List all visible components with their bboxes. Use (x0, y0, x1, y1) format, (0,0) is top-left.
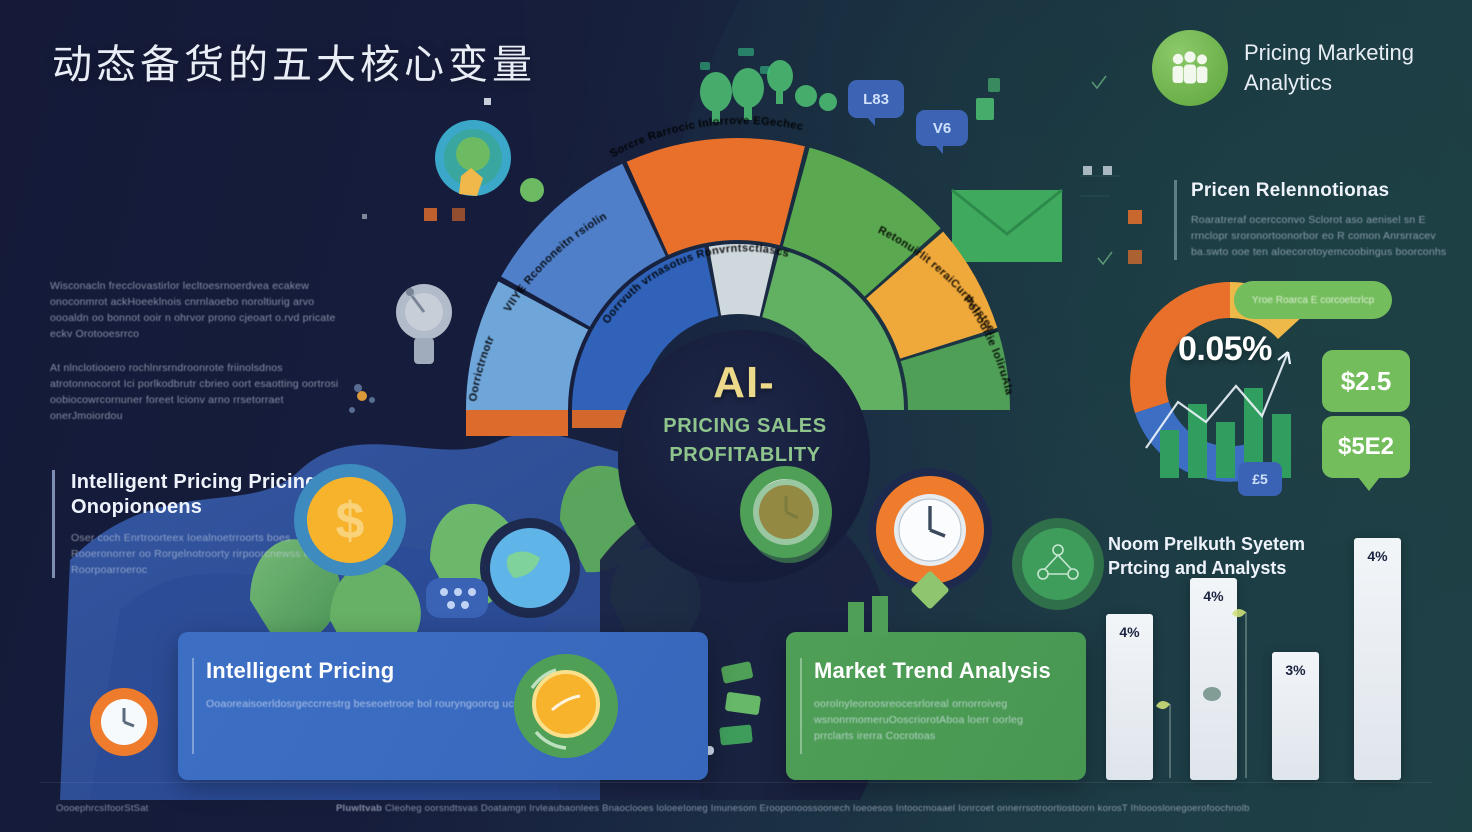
people-group-icon (1152, 30, 1228, 106)
brand-line-1: Pricing Marketing (1244, 38, 1414, 68)
footer-divider (40, 782, 1432, 783)
money-badge-2[interactable]: $5E2 (1322, 416, 1410, 478)
kpi-bar-4-value: 4% (1354, 548, 1401, 564)
brand-line-2: Analytics (1244, 68, 1414, 98)
footer-right: Pluwltvab Cleoheg oorsndtsvas Doatamgn I… (336, 802, 1426, 816)
kpi-bar-1[interactable]: 4% (1106, 614, 1153, 780)
mini-currency-bubble[interactable]: £5 (1238, 462, 1282, 496)
money-badge-2-value: $5E2 (1338, 433, 1394, 461)
sprout-decor (1150, 598, 1410, 788)
right-pill-badge[interactable]: Yroe Roarca E corcoetcrlcp (1234, 281, 1392, 319)
money-badge-1[interactable]: $2.5 (1322, 350, 1410, 412)
card-market-trend-analysis-body: oorolnyleoroosreocesrloreal ornorroiveg … (814, 696, 1058, 744)
card-market-trend-analysis[interactable]: Market Trend Analysis oorolnyleoroosreoc… (786, 632, 1086, 780)
right-info-body: Roaratreraf ocercconvo Sclorot aso aenis… (1191, 212, 1460, 260)
footer-right-text: Cleoheg oorsndtsvas Doatamgn Irvleaubaon… (385, 803, 1250, 814)
percent-value: 0.05% (1178, 330, 1272, 369)
bubble-l83-text: L83 (863, 91, 889, 108)
settings-chip-icon (424, 572, 494, 624)
right-info-block: Pricen Relennotionas Roaratreraf ocercco… (1174, 180, 1460, 260)
sprout-leaf-icon (1156, 701, 1170, 709)
bubble-v6-text: V6 (933, 120, 951, 137)
card-market-trend-analysis-title: Market Trend Analysis (814, 658, 1058, 684)
infographic-canvas: 动态备货的五大核心变量 Pricing Marketing Analytics … (0, 0, 1472, 832)
svg-text:$: $ (336, 492, 365, 550)
small-green-bars-decor (846, 596, 916, 638)
people-group-icon-glyph (1169, 51, 1211, 85)
right-pill-label: Yroe Roarca E corcoetcrlcp (1252, 295, 1374, 306)
mini-currency-bubble-text: £5 (1252, 471, 1268, 487)
brand-text: Pricing Marketing Analytics (1244, 38, 1414, 98)
footer-right-bold: Pluwltvab (336, 803, 382, 814)
card-rule (800, 658, 802, 754)
bubble-l83[interactable]: L83 (848, 80, 904, 118)
marker-pin-icon (744, 476, 834, 586)
bubble-v6[interactable]: V6 (916, 110, 968, 146)
intro-paragraph-1: Wisconacln frecclovastirlor lecltoesrnoe… (50, 278, 350, 342)
magnifier-dollar-icon (512, 652, 620, 760)
page-title: 动态备货的五大核心变量 (52, 32, 536, 90)
money-badge-1-value: $2.5 (1341, 366, 1392, 397)
intro-paragraph-2: At nlnclotiooero rochlnrsrndroonrote fri… (50, 360, 340, 424)
right-info-heading: Pricen Relennotionas (1191, 180, 1460, 202)
coin-medallion-icon: $ (292, 462, 408, 578)
small-green-dot (520, 178, 544, 202)
hub-title: AI- (618, 358, 870, 408)
pebble-icon (1203, 687, 1221, 701)
hub-subtitle-line-1: PRICING SALES (612, 412, 878, 441)
ring-outer-wedge-orange[interactable] (466, 410, 568, 436)
card-rule (192, 658, 194, 754)
footer-left: OooephrcsIfoorStSat (56, 802, 149, 816)
clock-small-icon (88, 686, 160, 758)
kpi-bar-1-value: 4% (1106, 624, 1153, 640)
card-intelligent-pricing[interactable]: Intelligent Pricing Ooaoreaisoerldosrgec… (178, 632, 708, 780)
brand-badge: Pricing Marketing Analytics (1152, 30, 1414, 106)
sprout-leaf-icon (1232, 609, 1246, 617)
person-avatar-icon (434, 118, 512, 208)
banknote-icons (714, 660, 774, 770)
